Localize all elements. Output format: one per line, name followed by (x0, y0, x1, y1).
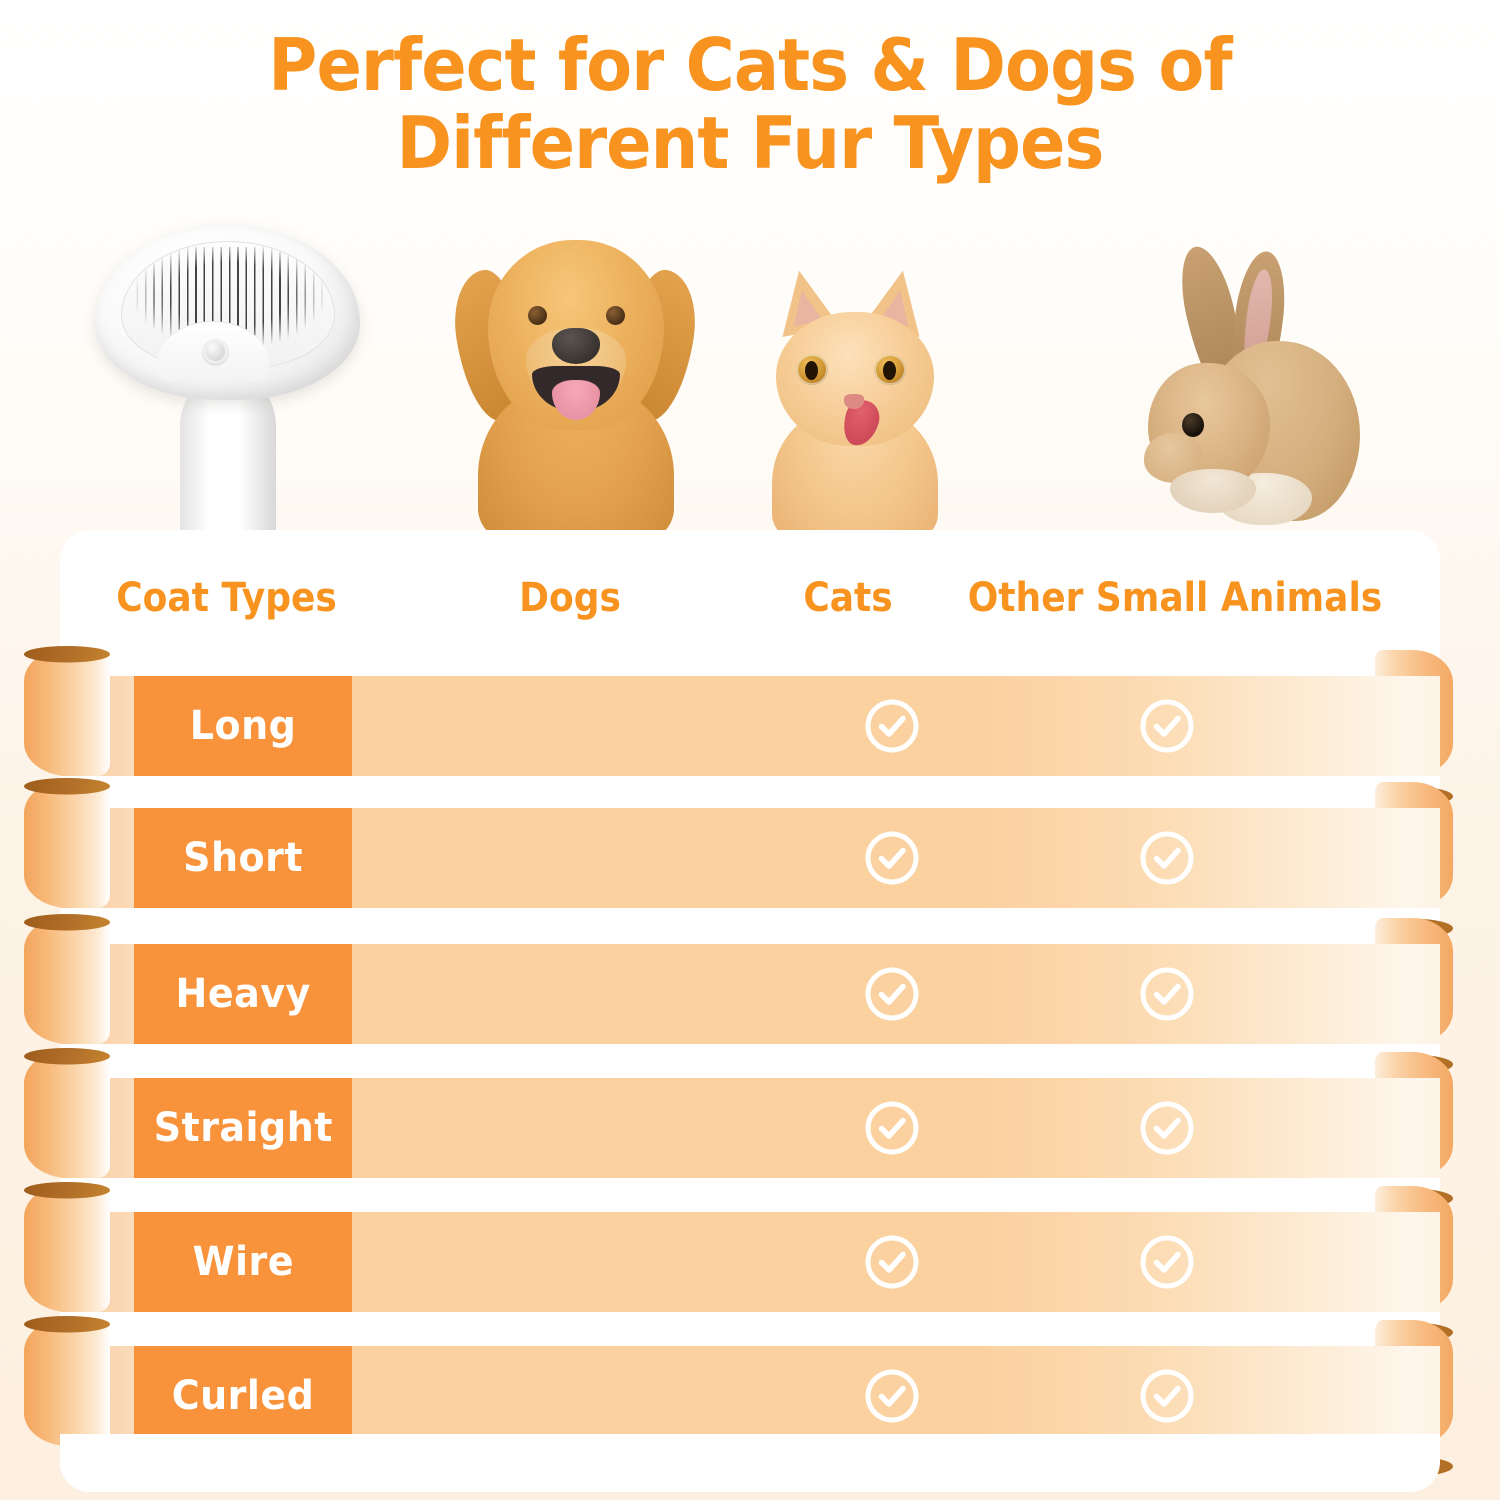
table-row: Curled (0, 1346, 1500, 1446)
ribbon-left-fold (24, 780, 110, 908)
row-label-cell: Long (134, 676, 352, 776)
row-label-cell: Wire (134, 1212, 352, 1312)
column-header-cats: Cats (722, 568, 974, 628)
row-label-cell: Curled (134, 1346, 352, 1446)
row-label-text: Wire (192, 1239, 293, 1285)
table-row: Straight (0, 1078, 1500, 1178)
card-footer-strip (60, 1434, 1440, 1492)
ribbon-bar: Curled (60, 1346, 1440, 1446)
ribbon-left-fold (24, 1184, 110, 1312)
ribbon-bar: Straight (60, 1078, 1440, 1178)
ribbon-left-fold-cap (24, 1316, 110, 1333)
table-row: Wire (0, 1212, 1500, 1312)
row-label-text: Short (183, 835, 303, 881)
ribbon-body (352, 1212, 1440, 1312)
check-circle-icon (863, 965, 921, 1023)
column-header-coat-types: Coat Types (116, 568, 337, 628)
column-header-dogs: Dogs (444, 568, 696, 628)
check-circle-icon (863, 1367, 921, 1425)
ribbon-left-fold-cap (24, 1048, 110, 1065)
ribbon-left-fold-cap (24, 778, 110, 795)
ribbon-body (352, 676, 1440, 776)
row-label-cell: Heavy (134, 944, 352, 1044)
check-circle-icon (863, 829, 921, 887)
row-label-cell: Short (134, 808, 352, 908)
ribbon-left-fold-cap (24, 1182, 110, 1199)
ribbon-body (352, 1346, 1440, 1446)
ribbon-left-fold (24, 1318, 110, 1446)
ribbon-body (352, 944, 1440, 1044)
table-row: Short (0, 808, 1500, 908)
table-row: Heavy (0, 944, 1500, 1044)
ribbon-body (352, 808, 1440, 908)
ribbon-left-fold-cap (24, 914, 110, 931)
check-circle-icon (1138, 1367, 1196, 1425)
column-header-other-small-animals: Other Small Animals (955, 568, 1396, 628)
row-label-text: Straight (153, 1105, 332, 1151)
table-header-row: Coat Types Dogs Cats Other Small Animals (60, 568, 1440, 644)
check-circle-icon (863, 1099, 921, 1157)
check-circle-icon (863, 1233, 921, 1291)
check-circle-icon (1138, 829, 1196, 887)
check-circle-icon (1138, 965, 1196, 1023)
ribbon-bar: Short (60, 808, 1440, 908)
row-label-text: Heavy (175, 971, 310, 1017)
ribbon-left-fold (24, 916, 110, 1044)
ribbon-bar: Long (60, 676, 1440, 776)
row-label-cell: Straight (134, 1078, 352, 1178)
ribbon-bar: Heavy (60, 944, 1440, 1044)
ribbon-body (352, 1078, 1440, 1178)
row-label-text: Long (190, 703, 296, 749)
check-circle-icon (1138, 1099, 1196, 1157)
check-circle-icon (863, 697, 921, 755)
row-label-text: Curled (172, 1373, 315, 1419)
table-row: Long (0, 676, 1500, 776)
check-circle-icon (1138, 697, 1196, 755)
ribbon-left-fold (24, 1050, 110, 1178)
ribbon-left-fold (24, 648, 110, 776)
check-circle-icon (1138, 1233, 1196, 1291)
ribbon-left-fold-cap (24, 646, 110, 663)
ribbon-bar: Wire (60, 1212, 1440, 1312)
table-body: LongShortHeavyStraightWireCurled (0, 0, 1500, 1500)
